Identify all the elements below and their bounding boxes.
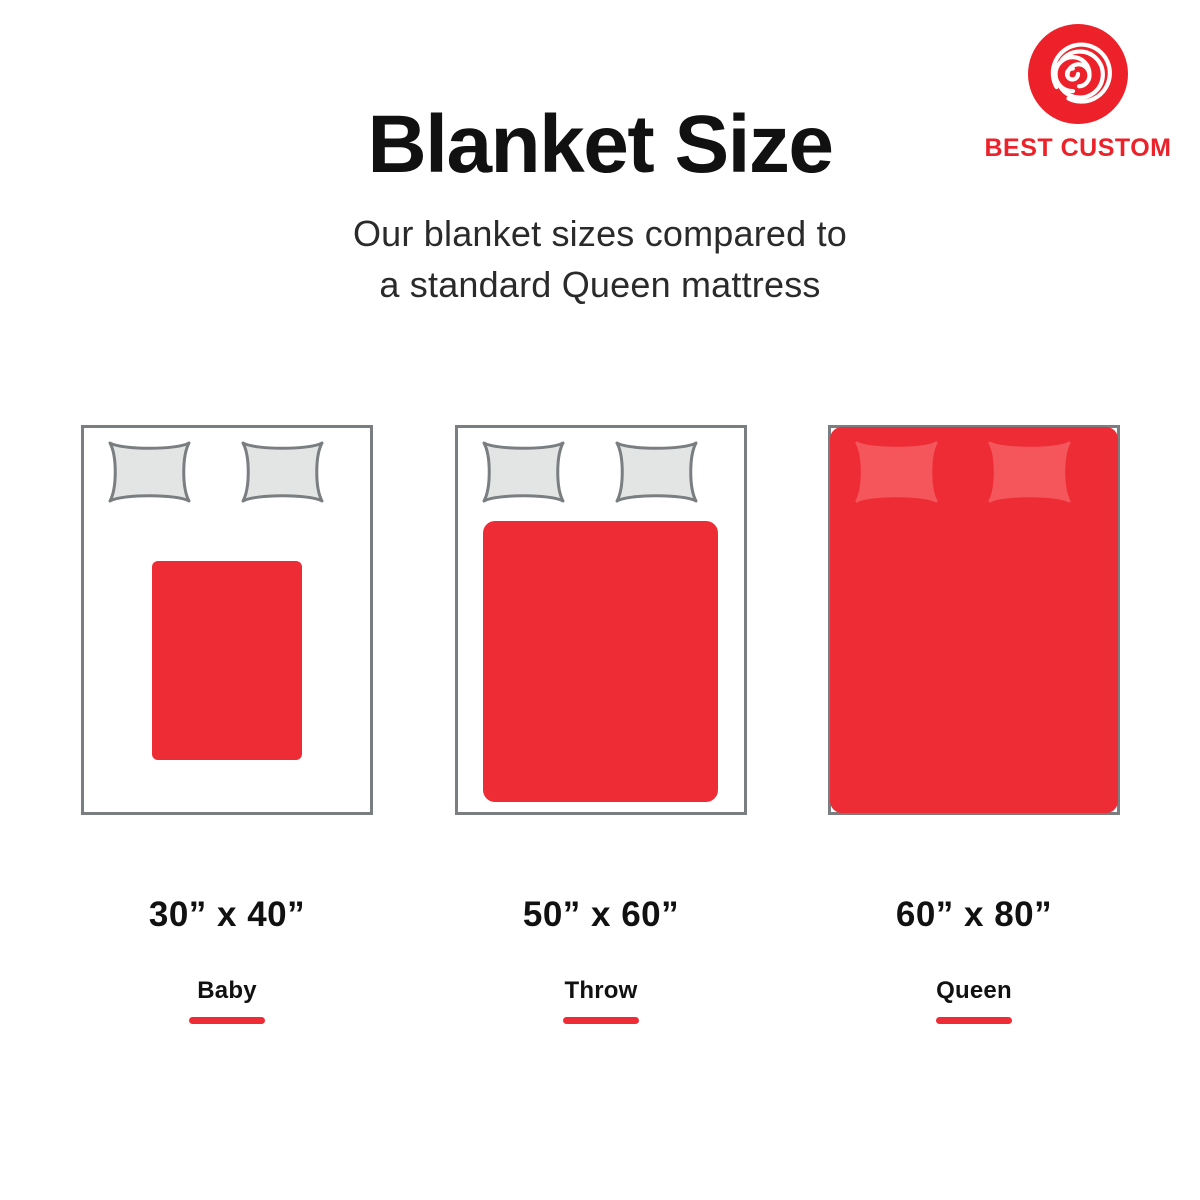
page-subtitle-line-1: Our blanket sizes compared to	[0, 208, 1200, 259]
pillow-right	[990, 443, 1069, 501]
pillow-left	[110, 443, 189, 501]
caption-size-name: Queen	[828, 977, 1120, 1005]
caption-underline	[936, 1017, 1012, 1024]
page-title: Blanket Size	[0, 0, 1200, 186]
bed-comparison-row	[0, 425, 1200, 825]
bed-diagram-baby	[81, 425, 373, 815]
bed-diagram-queen	[828, 425, 1120, 815]
caption-underline	[563, 1017, 639, 1024]
pillow-left	[857, 443, 936, 501]
caption-underline	[189, 1017, 265, 1024]
bed-diagram-throw-svg	[455, 425, 747, 815]
header: Blanket Size Our blanket sizes compared …	[0, 0, 1200, 310]
caption-throw: 50” x 60” Throw	[455, 895, 747, 1024]
bed-diagram-queen-svg	[828, 425, 1120, 815]
bed-diagram-throw	[455, 425, 747, 815]
caption-baby: 30” x 40” Baby	[81, 895, 373, 1024]
caption-queen: 60” x 80” Queen	[828, 895, 1120, 1024]
caption-dimensions: 30” x 40”	[81, 895, 373, 935]
caption-size-name: Throw	[455, 977, 747, 1005]
captions-row: 30” x 40” Baby 50” x 60” Throw 60” x 80”…	[0, 895, 1200, 1055]
pillow-left	[484, 443, 563, 501]
caption-size-name: Baby	[81, 977, 373, 1005]
blanket-rect	[483, 521, 718, 802]
page-subtitle-line-2: a standard Queen mattress	[0, 259, 1200, 310]
pillow-right	[617, 443, 696, 501]
blanket-rect	[152, 561, 302, 760]
caption-dimensions: 50” x 60”	[455, 895, 747, 935]
pillow-right	[243, 443, 322, 501]
bed-diagram-baby-svg	[81, 425, 373, 815]
page-subtitle: Our blanket sizes compared to a standard…	[0, 208, 1200, 310]
caption-dimensions: 60” x 80”	[828, 895, 1120, 935]
